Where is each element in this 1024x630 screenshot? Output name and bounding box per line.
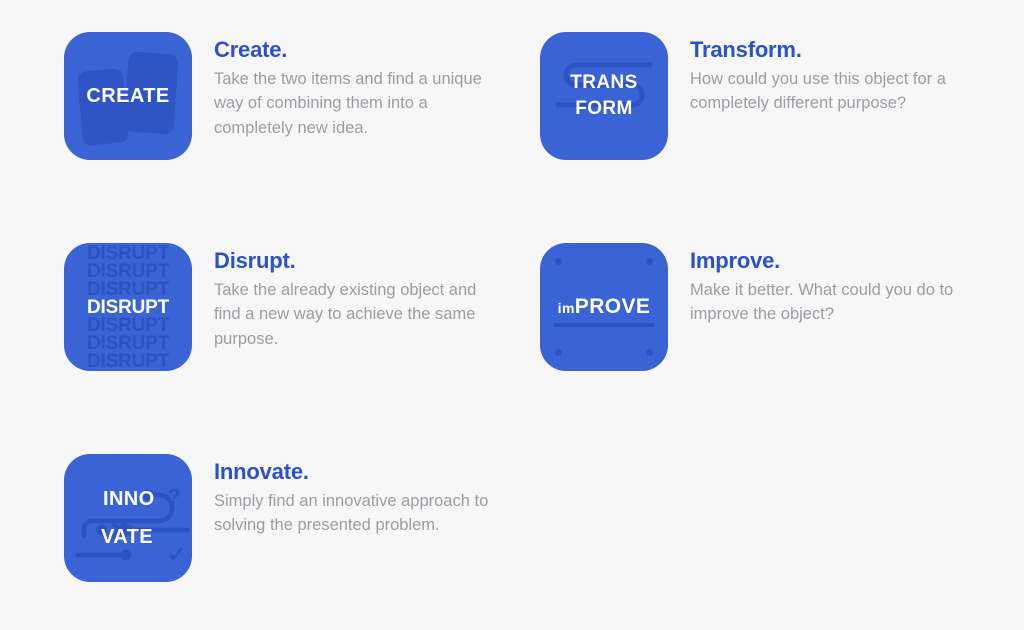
improve-underline xyxy=(554,323,654,327)
create-tile-label: CREATE xyxy=(86,86,169,107)
check-mark-glyph: ✓ xyxy=(168,542,186,567)
screw-dot-icon xyxy=(646,349,653,356)
transform-title: Transform. xyxy=(690,38,975,62)
innovate-title: Innovate. xyxy=(214,460,499,484)
disrupt-row: DISRUPT xyxy=(87,352,169,370)
disrupt-tile-label: DISRUPT xyxy=(87,298,169,316)
methods-board: CREATE Create. Take the two items and fi… xyxy=(0,0,1024,630)
disrupt-row: DISRUPT xyxy=(87,316,169,334)
card-disrupt[interactable]: DISRUPT DISRUPT DISRUPT DISRUPT DISRUPT … xyxy=(64,243,499,371)
create-title: Create. xyxy=(214,38,499,62)
create-card-shape-back xyxy=(77,68,129,146)
screw-dot-icon xyxy=(555,258,562,265)
create-text-group: Create. Take the two items and find a un… xyxy=(214,32,499,140)
improve-text-group: Improve. Make it better. What could you … xyxy=(690,243,975,327)
transform-tile-label-line2: FORM xyxy=(575,98,633,119)
transform-tile-label: TRANS FORM xyxy=(570,70,637,121)
transform-tile-label-line1: TRANS xyxy=(570,72,637,93)
disrupt-row: DISRUPT xyxy=(87,280,169,298)
disrupt-row: DISRUPT xyxy=(87,334,169,352)
question-mark-glyph: ? xyxy=(167,484,180,509)
improve-title: Improve. xyxy=(690,249,975,273)
innovate-icon[interactable]: ? ✓ INNO VATE xyxy=(64,454,192,582)
transform-text-group: Transform. How could you use this object… xyxy=(690,32,975,116)
innovate-tile-label-line1: INNO xyxy=(101,480,155,518)
card-improve[interactable]: imPROVE Improve. Make it better. What co… xyxy=(540,243,975,371)
innovate-tile-label: INNO VATE xyxy=(101,480,155,556)
innovate-tile-label-line2: VATE xyxy=(101,518,155,556)
disrupt-icon[interactable]: DISRUPT DISRUPT DISRUPT DISRUPT DISRUPT … xyxy=(64,243,192,371)
screw-dot-icon xyxy=(555,349,562,356)
disrupt-repeat-stack: DISRUPT DISRUPT DISRUPT DISRUPT DISRUPT … xyxy=(64,243,192,371)
create-description: Take the two items and find a unique way… xyxy=(214,67,499,140)
improve-icon[interactable]: imPROVE xyxy=(540,243,668,371)
disrupt-title: Disrupt. xyxy=(214,249,499,273)
transform-icon[interactable]: TRANS FORM xyxy=(540,32,668,160)
create-icon[interactable]: CREATE xyxy=(64,32,192,160)
card-innovate[interactable]: ? ✓ INNO VATE Innovate. Simply find an i… xyxy=(64,454,499,582)
card-transform[interactable]: TRANS FORM Transform. How could you use … xyxy=(540,32,975,160)
disrupt-row: DISRUPT xyxy=(87,262,169,280)
improve-description: Make it better. What could you do to imp… xyxy=(690,278,975,327)
improve-tile-label: imPROVE xyxy=(558,296,651,318)
transform-description: How could you use this object for a comp… xyxy=(690,67,975,116)
disrupt-text-group: Disrupt. Take the already existing objec… xyxy=(214,243,499,351)
innovate-description: Simply find an innovative approach to so… xyxy=(214,489,499,538)
disrupt-row: DISRUPT xyxy=(87,244,169,262)
card-create[interactable]: CREATE Create. Take the two items and fi… xyxy=(64,32,499,160)
screw-dot-icon xyxy=(646,258,653,265)
improve-tile-label-main: PROVE xyxy=(575,295,651,318)
disrupt-description: Take the already existing object and fin… xyxy=(214,278,499,351)
improve-tile-label-prefix: im xyxy=(558,300,575,316)
innovate-text-group: Innovate. Simply find an innovative appr… xyxy=(214,454,499,538)
